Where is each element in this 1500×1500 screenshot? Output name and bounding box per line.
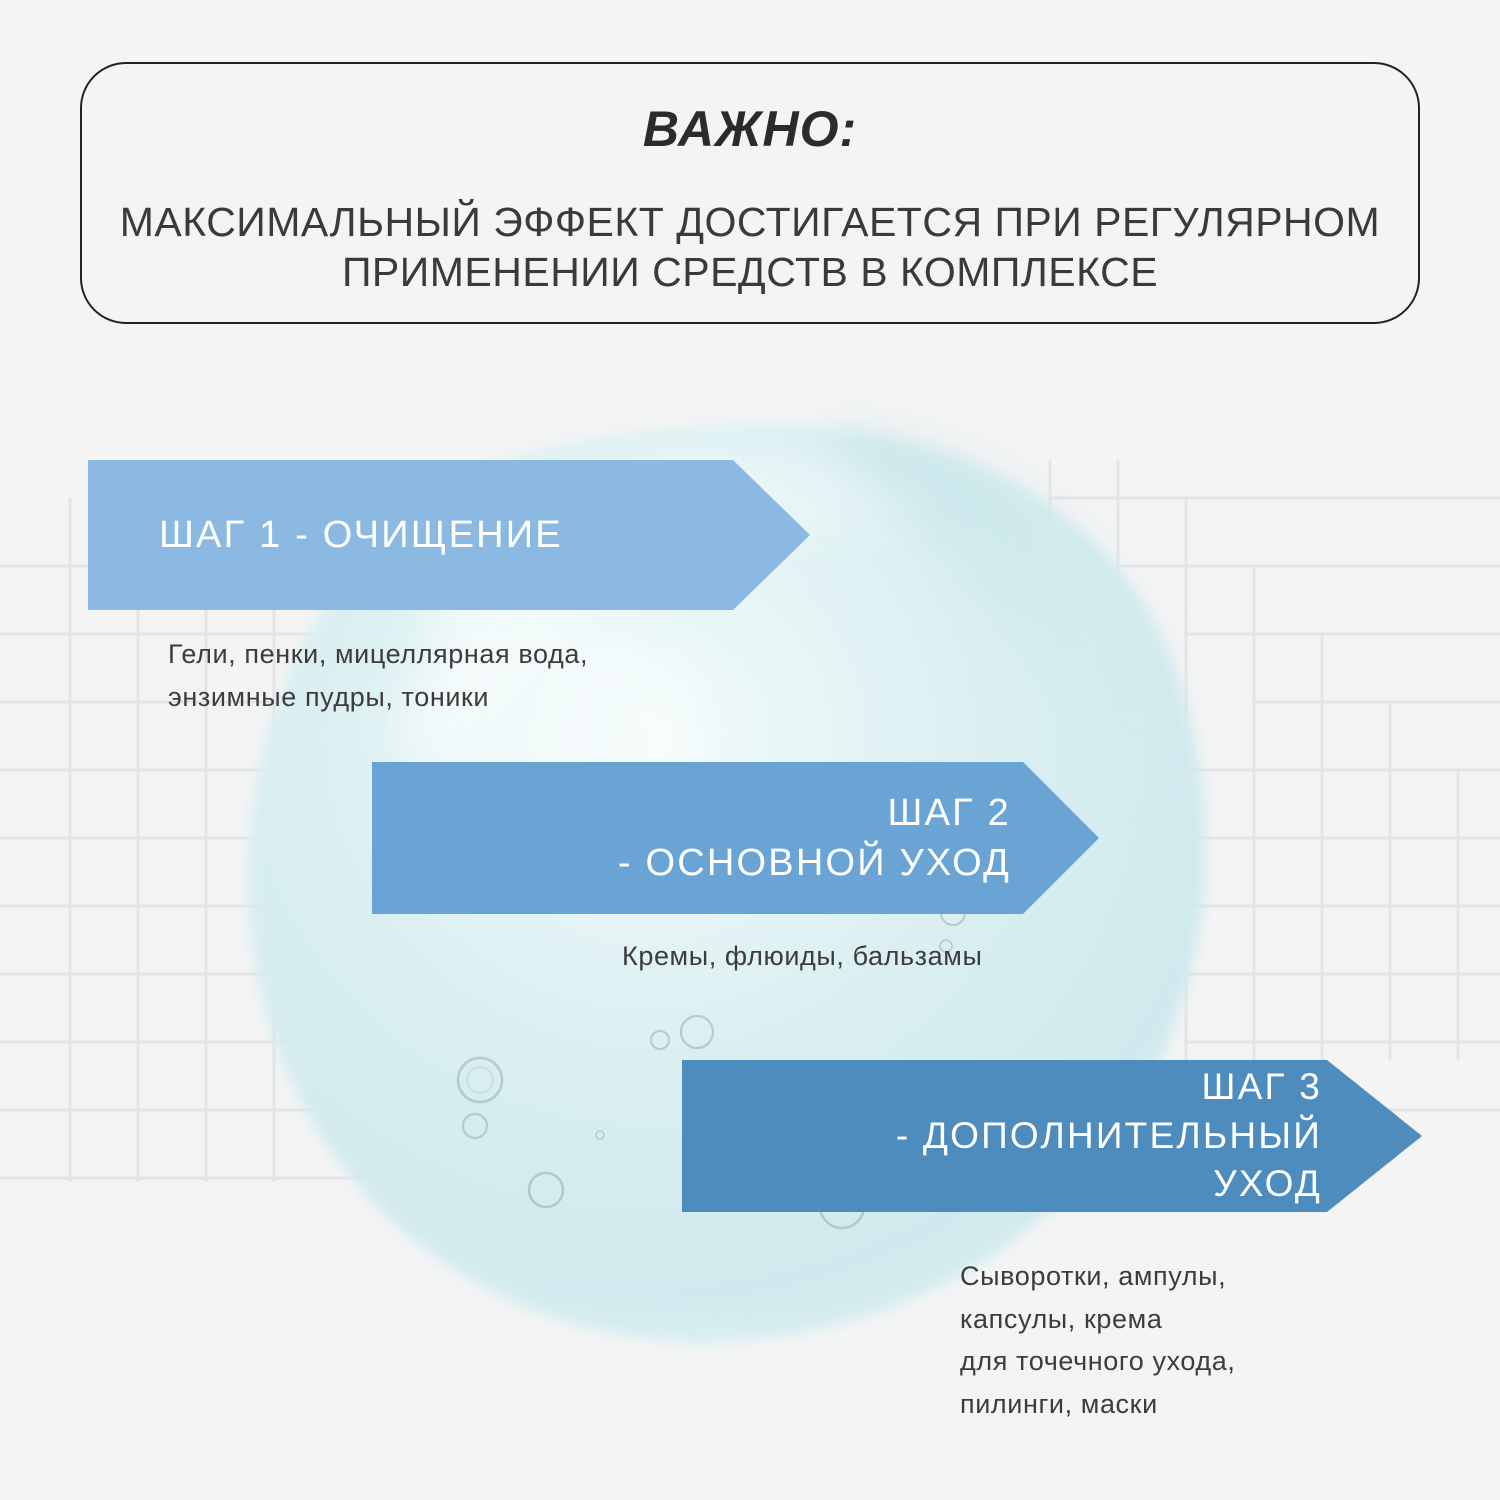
step-2-description: Кремы, флюиды, бальзамы: [622, 935, 982, 978]
important-callout-box: ВАЖНО: МАКСИМАЛЬНЫЙ ЭФФЕКТ ДОСТИГАЕТСЯ П…: [80, 62, 1420, 324]
infographic-page: ВАЖНО: МАКСИМАЛЬНЫЙ ЭФФЕКТ ДОСТИГАЕТСЯ П…: [0, 0, 1500, 1500]
callout-subtitle: МАКСИМАЛЬНЫЙ ЭФФЕКТ ДОСТИГАЕТСЯ ПРИ РЕГУ…: [110, 197, 1390, 297]
step-3-label: ШАГ 3 - ДОПОЛНИТЕЛЬНЫЙ УХОД: [682, 1063, 1422, 1209]
step-3-description: Сыворотки, ампулы, капсулы, крема для то…: [960, 1255, 1235, 1426]
step-2-arrow[interactable]: ШАГ 2 - ОСНОВНОЙ УХОД: [372, 762, 1099, 914]
step-1-label: ШАГ 1 - ОЧИЩЕНИЕ: [88, 510, 810, 560]
callout-title: ВАЖНО:: [643, 102, 857, 157]
step-2-label: ШАГ 2 - ОСНОВНОЙ УХОД: [372, 788, 1099, 888]
step-3-arrow[interactable]: ШАГ 3 - ДОПОЛНИТЕЛЬНЫЙ УХОД: [682, 1060, 1422, 1212]
step-1-description: Гели, пенки, мицеллярная вода, энзимные …: [168, 633, 588, 718]
step-1-arrow[interactable]: ШАГ 1 - ОЧИЩЕНИЕ: [88, 460, 810, 610]
